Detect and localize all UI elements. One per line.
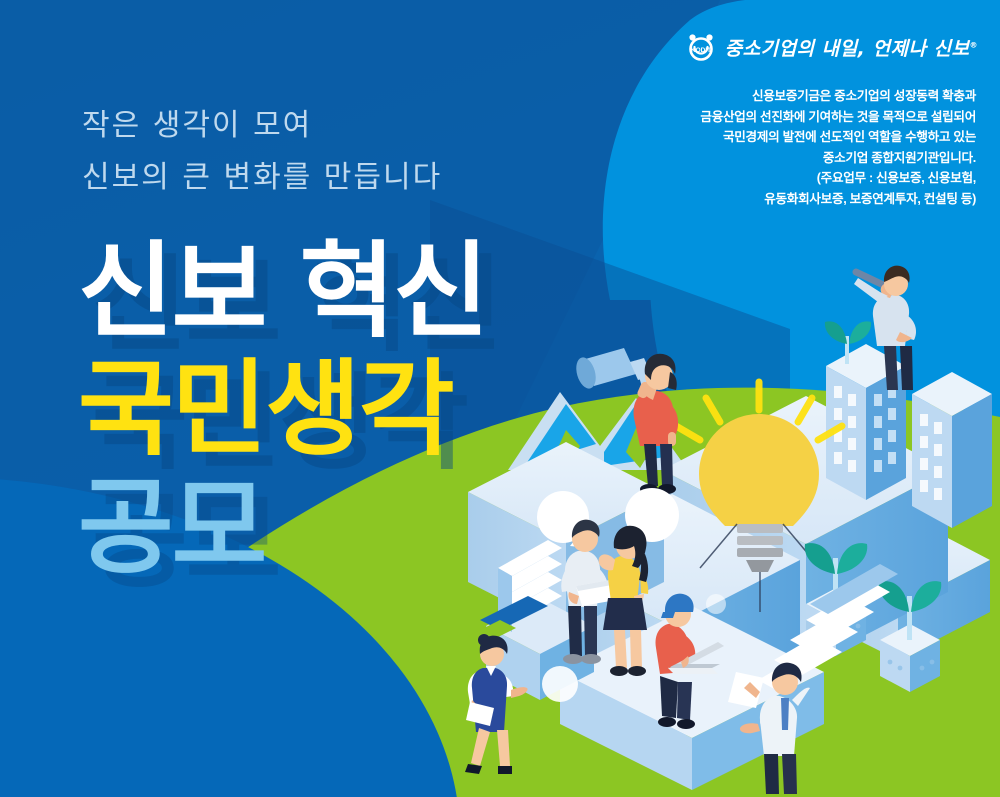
org-description-line-1: 신용보증기금은 중소기업의 성장동력 확충과	[624, 86, 976, 107]
brand-logo-label: 중소기업의 내일, 언제나 신보	[725, 38, 970, 60]
org-description-line-6: 유동화회사보증, 보증연계투자, 컨설팅 등)	[624, 189, 976, 210]
org-description: 신용보증기금은 중소기업의 성장동력 확충과 금융산업의 선진화에 기여하는 것…	[624, 86, 976, 210]
tagline-line-1: 작은 생각이 모여	[82, 100, 442, 152]
brand-logo: KODIT 중소기업의 내일, 언제나 신보®	[686, 31, 978, 63]
org-description-line-5: (주요업무 : 신용보증, 신용보험,	[624, 168, 976, 189]
kodit-emblem-label: KODIT	[691, 47, 711, 54]
brand-logo-text: 중소기업의 내일, 언제나 신보®	[725, 34, 978, 61]
poster-root: 작은 생각이 모여 신보의 큰 변화를 만듭니다 신보 혁신 국민생각 공모 K…	[0, 0, 1000, 797]
headline-line-1: 신보 혁신	[78, 232, 487, 350]
tagline-line-2: 신보의 큰 변화를 만듭니다	[82, 152, 442, 204]
page-title: 신보 혁신 국민생각 공모	[78, 232, 487, 586]
headline-line-2: 국민생각	[78, 350, 487, 468]
brand-trademark: ®	[970, 40, 979, 49]
org-description-line-2: 금융산업의 선진화에 기여하는 것을 목적으로 설립되어	[624, 107, 976, 128]
org-description-line-4: 중소기업 종합지원기관입니다.	[624, 148, 976, 169]
kodit-emblem-icon: KODIT	[686, 33, 716, 61]
org-description-line-3: 국민경제의 발전에 선도적인 역할을 수행하고 있는	[624, 127, 976, 148]
headline-line-3: 공모	[78, 468, 487, 586]
tagline: 작은 생각이 모여 신보의 큰 변화를 만듭니다	[82, 100, 442, 204]
